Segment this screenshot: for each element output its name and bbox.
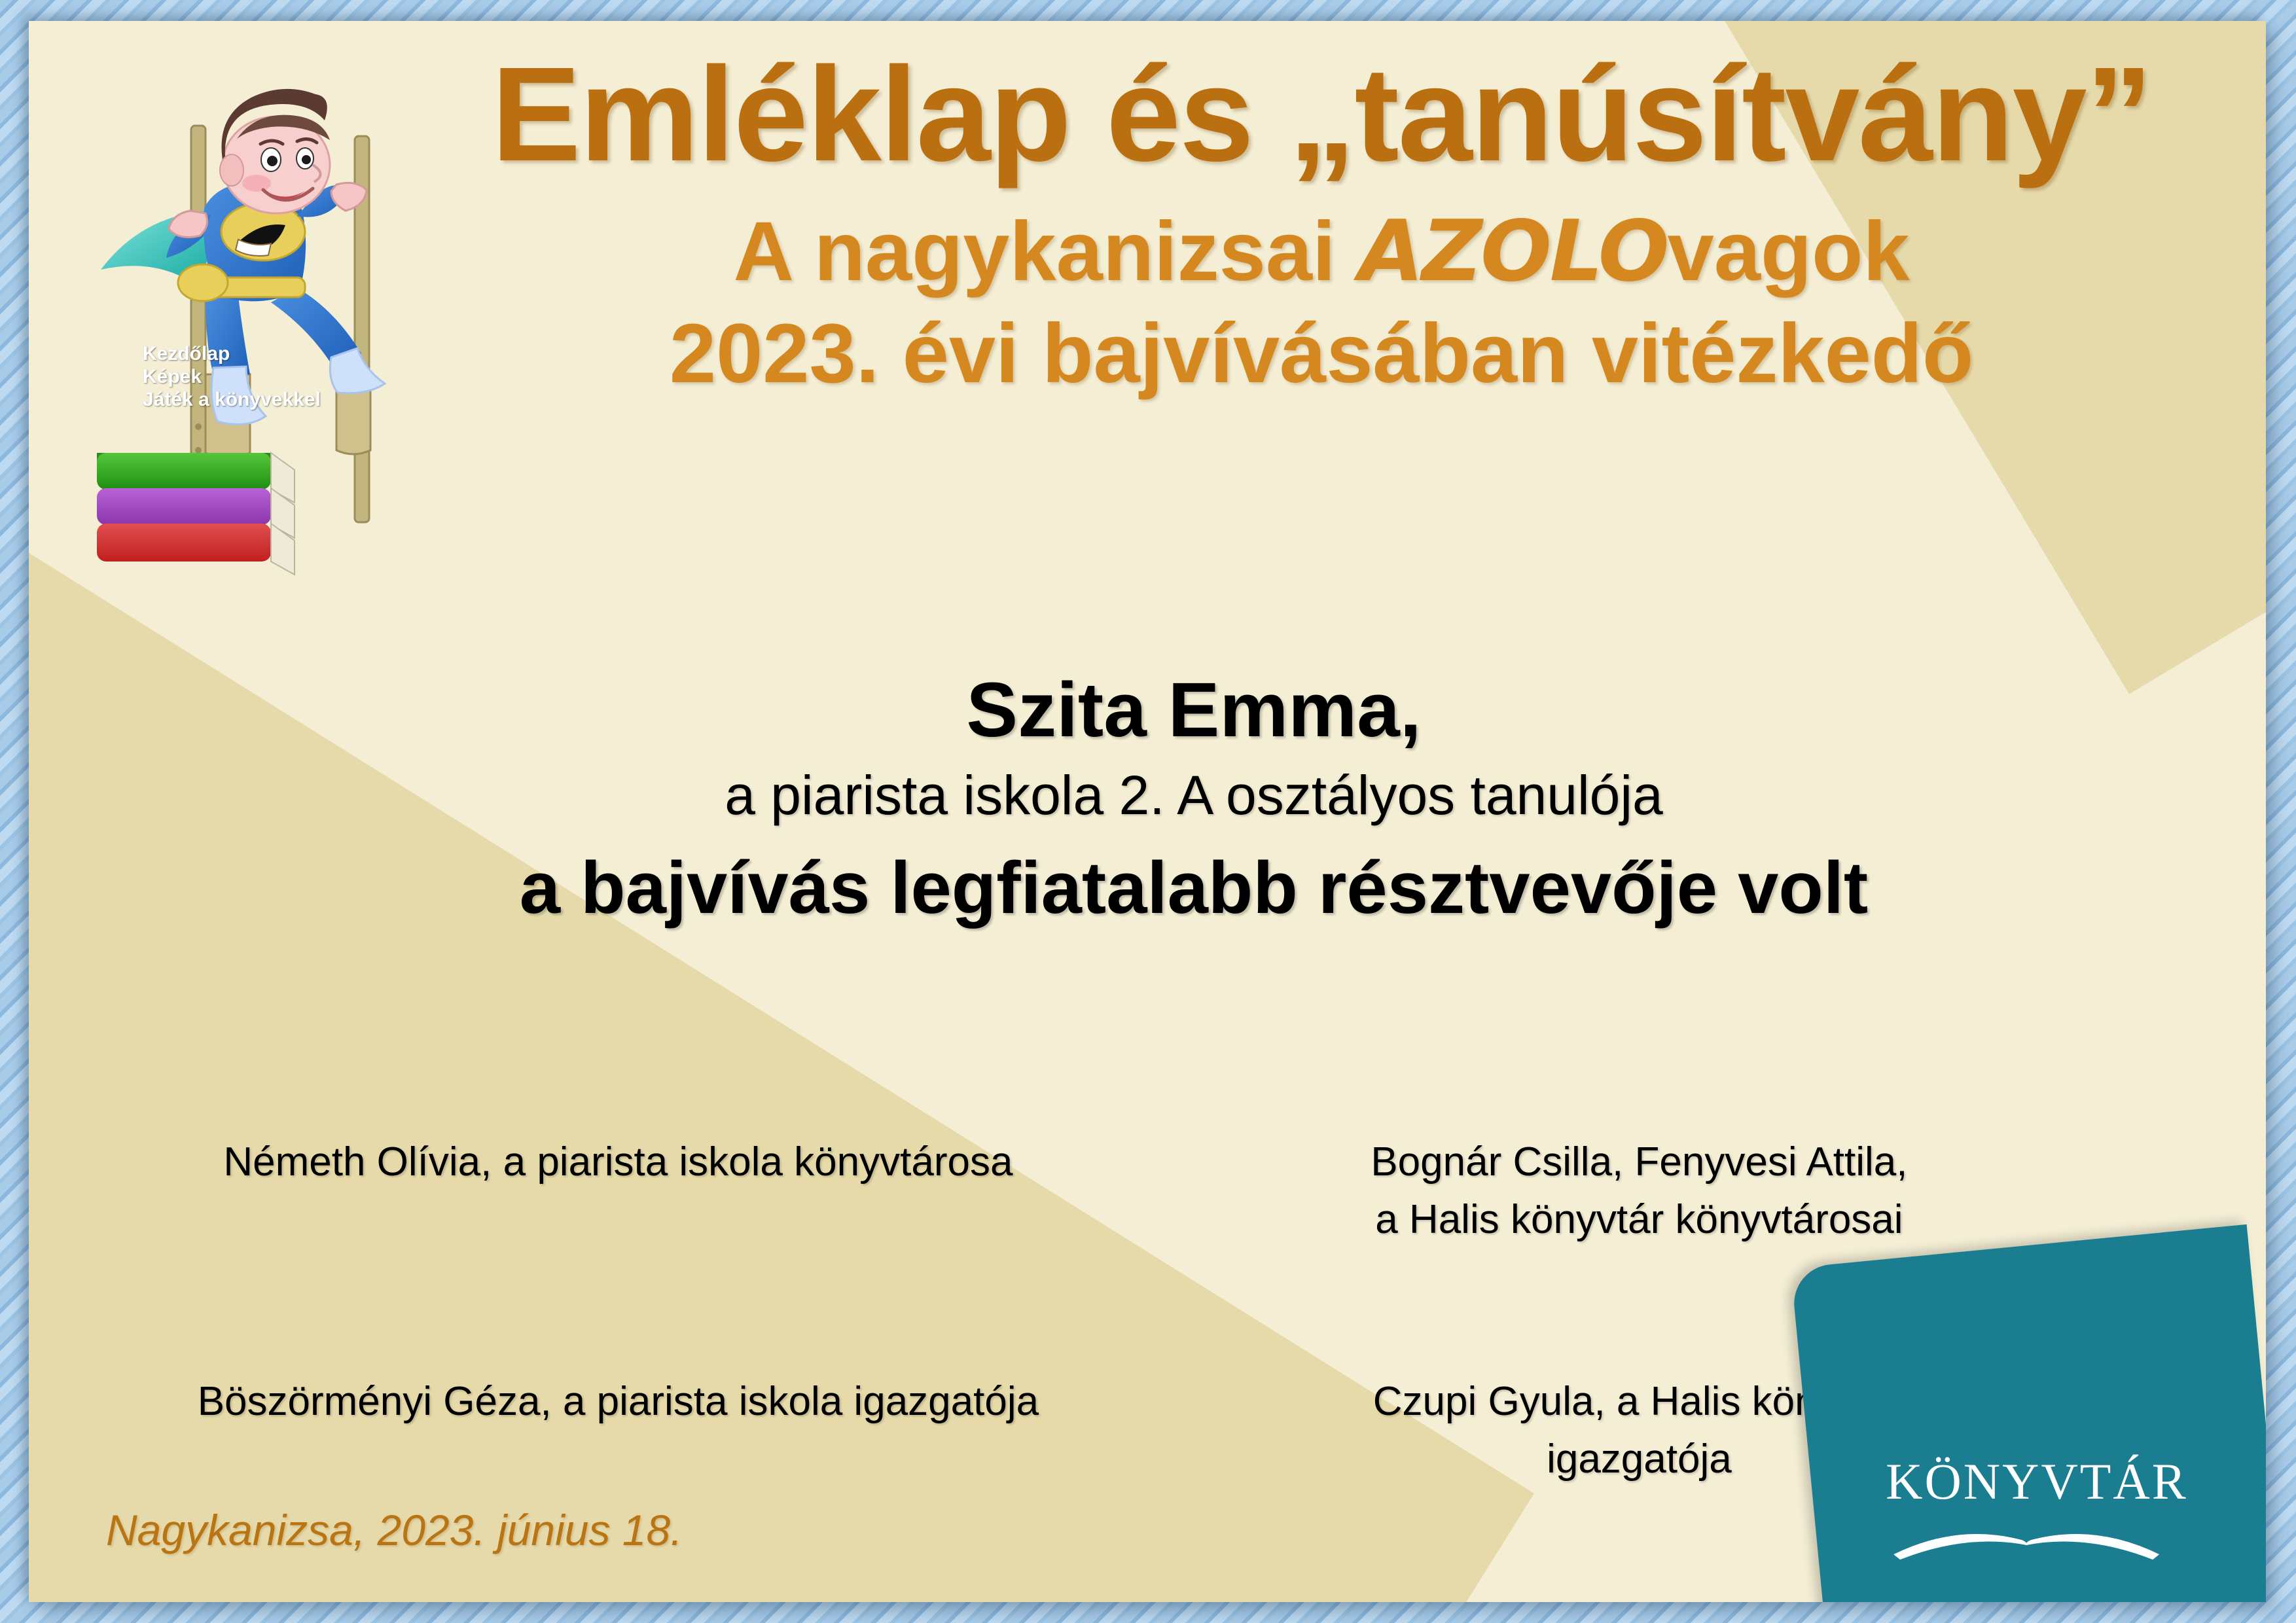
certificate-root: Kezdőlap Képek Játék a könyvekkel Emlékl…	[0, 0, 2296, 1623]
book-stack	[97, 453, 295, 575]
open-book-icon	[1886, 1511, 2167, 1567]
signature-line: Bognár Csilla, Fenyvesi Attila,	[1162, 1133, 2117, 1191]
signature-director-school: Böszörményi Géza, a piarista iskola igaz…	[101, 1373, 1162, 1488]
library-logo-panel: KÖNYVTÁR	[1791, 1224, 2266, 1602]
place-and-date: Nagykanizsa, 2023. június 18.	[106, 1505, 683, 1555]
certificate-card: Kezdőlap Képek Játék a könyvekkel Emlékl…	[29, 21, 2266, 1602]
signature-line: a Halis könyvtár könyvtárosai	[1162, 1191, 2117, 1249]
page-title: Emléklap és „tanúsítvány”	[395, 46, 2248, 183]
achievement-text: a bajvívás legfiatalabb résztvevője volt	[245, 844, 2143, 932]
signature-librarian-school: Németh Olívia, a piarista iskola könyvtá…	[101, 1133, 1162, 1249]
header-block: Emléklap és „tanúsítvány” A nagykanizsai…	[395, 46, 2248, 405]
signature-librarians-halis: Bognár Csilla, Fenyvesi Attila, a Halis …	[1162, 1133, 2117, 1249]
subtitle-line-1: A nagykanizsai AZOLOvagok	[395, 201, 2248, 303]
library-wordmark: KÖNYVTÁR	[1886, 1456, 2167, 1507]
brand-azolo: AZOLO	[1359, 203, 1668, 300]
subtitle-line-2: 2023. évi bajvívásában vitézkedő	[395, 303, 2248, 405]
signature-row: Németh Olívia, a piarista iskola könyvtá…	[101, 1133, 2117, 1249]
mascot-illustration: Kezdőlap Képek Játék a könyvekkel	[75, 86, 415, 623]
recipient-name: Szita Emma,	[245, 669, 2143, 752]
library-logo: KÖNYVTÁR	[1886, 1456, 2167, 1567]
recipient-role: a piarista iskola 2. A osztályos tanulój…	[245, 761, 2143, 830]
subtitle-suffix: vagok	[1668, 205, 1910, 298]
body-block: Szita Emma, a piarista iskola 2. A osztá…	[245, 669, 2143, 933]
subtitle-prefix: A nagykanizsai	[733, 205, 1359, 298]
